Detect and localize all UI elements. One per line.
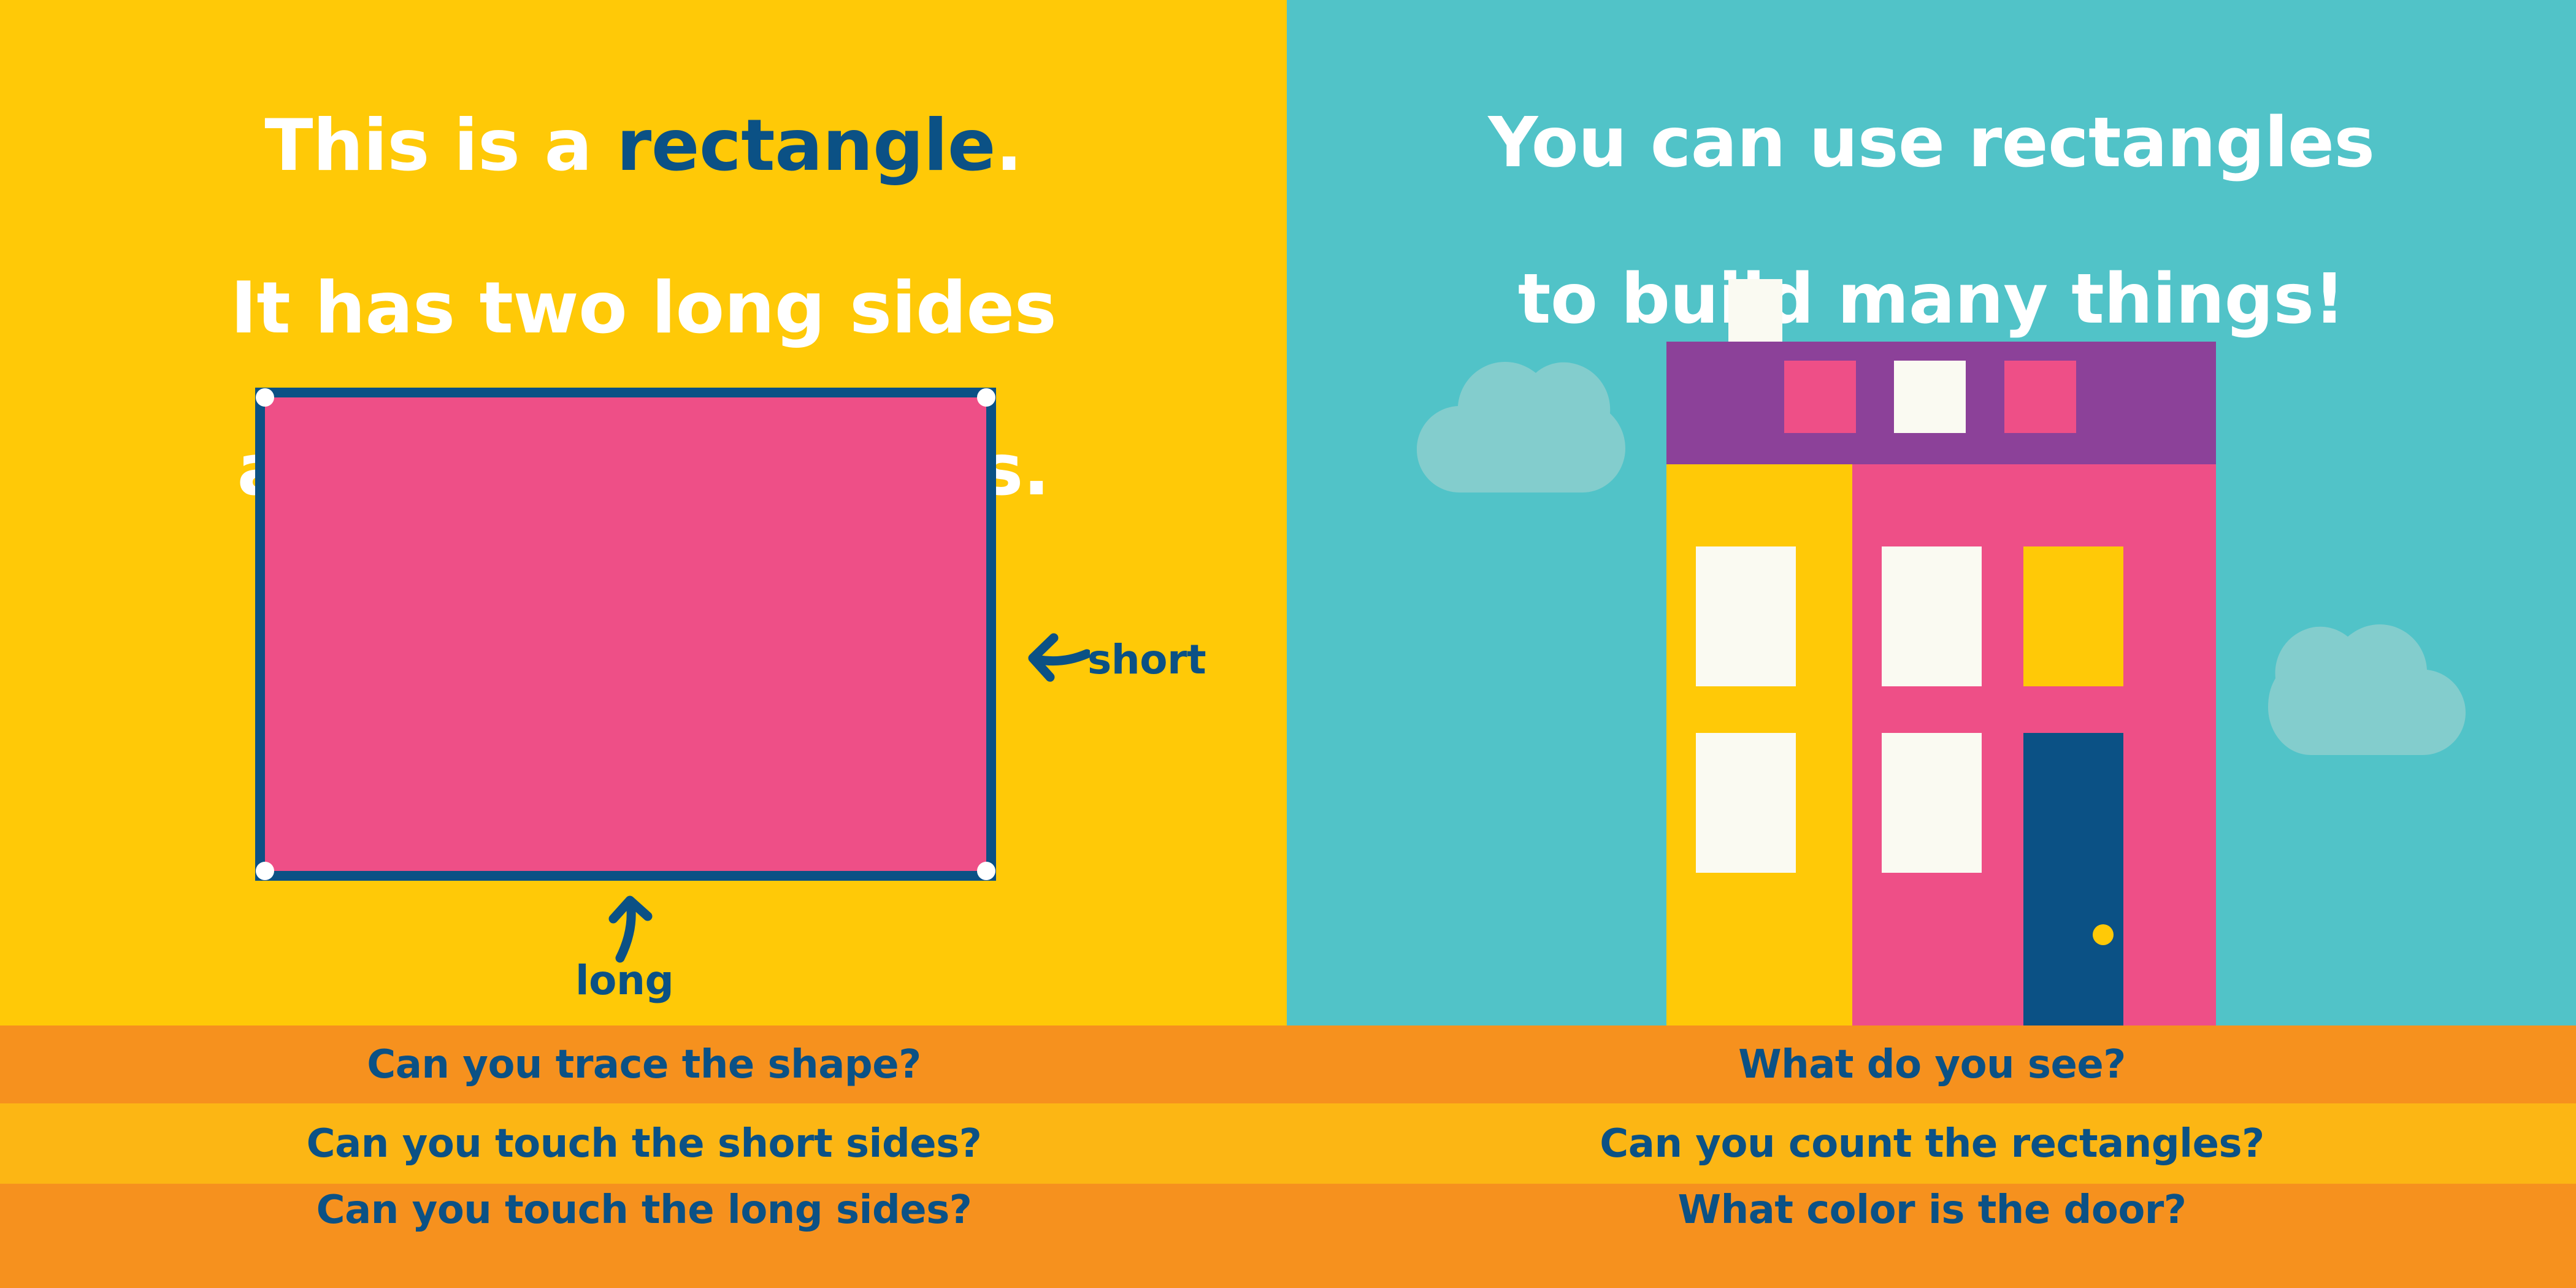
door-knob-icon (2093, 924, 2114, 945)
question-left-trace-shape: Can you trace the shape? (0, 1025, 1288, 1103)
question-left-touch-long-sides: Can you touch the long sides? (0, 1184, 1288, 1288)
question-bar-row-2: Can you touch the short sides? Can you c… (0, 1103, 2576, 1184)
window-middle-upper (1882, 546, 1982, 686)
window-left-lower (1696, 733, 1796, 873)
question-bar-row-1: Can you trace the shape? What do you see… (0, 1025, 2576, 1103)
question-right-door-color: What color is the door? (1288, 1184, 2576, 1288)
rectangle-figure (255, 388, 996, 881)
annotation-label-short: short (1087, 636, 1206, 683)
roof-window-2 (1894, 361, 1966, 433)
window-left-upper (1696, 546, 1796, 686)
window-middle-lower (1882, 733, 1982, 873)
corner-dot-bottom-right[interactable] (977, 862, 995, 880)
curved-left-arrow-icon (1025, 631, 1090, 686)
annotation-label-long: long (575, 957, 673, 1004)
house-chimney (1728, 279, 1782, 342)
heading-line-two-long-sides: It has two long sides (231, 267, 1057, 350)
corner-dot-top-left[interactable] (256, 388, 274, 407)
curved-up-arrow-icon (605, 895, 660, 963)
heading-line-you-can-use-rectangles: You can use rectangles (1488, 103, 2374, 183)
roof-window-3 (2004, 361, 2076, 433)
question-bar-row-3: Can you touch the long sides? What color… (0, 1184, 2576, 1288)
question-right-count-rectangles: Can you count the rectangles? (1288, 1103, 2576, 1184)
house-illustration (1666, 279, 2216, 1025)
rectangle-shape[interactable] (255, 388, 996, 881)
house-door[interactable] (2023, 733, 2123, 1025)
cloud-icon-left (1417, 361, 1625, 493)
window-right-yellow (2023, 546, 2123, 686)
cloud-icon-right (2268, 624, 2466, 755)
heading-accent-rectangle: rectangle (616, 104, 995, 187)
rectangle-lesson-page: This is a rectangle. It has two long sid… (0, 0, 2576, 1288)
corner-dot-bottom-left[interactable] (256, 862, 274, 880)
heading-period: . (995, 104, 1022, 187)
question-right-what-do-you-see: What do you see? (1288, 1025, 2576, 1103)
left-panel-rectangle-definition: This is a rectangle. It has two long sid… (0, 0, 1287, 1025)
corner-dot-top-right[interactable] (977, 388, 995, 407)
question-left-touch-short-sides: Can you touch the short sides? (0, 1103, 1288, 1184)
heading-text-this-is-a: This is a (264, 104, 616, 187)
roof-window-1 (1784, 361, 1856, 433)
